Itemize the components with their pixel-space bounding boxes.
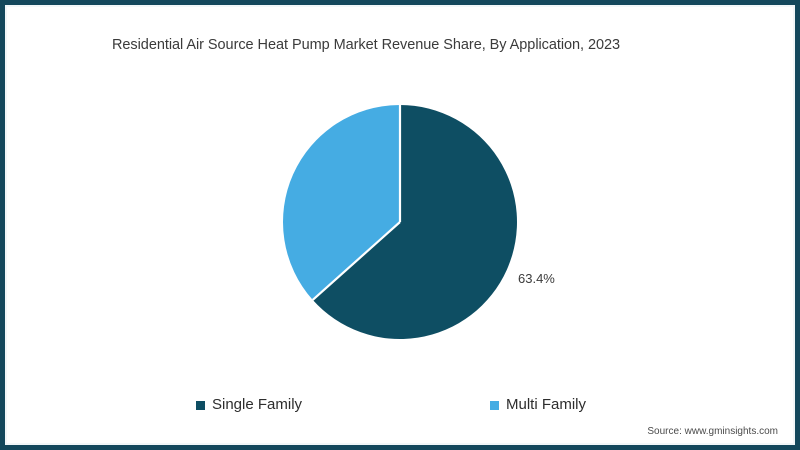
legend-label-multi-family: Multi Family	[506, 396, 586, 414]
legend-label-single-family: Single Family	[212, 396, 302, 414]
chart-title: Residential Air Source Heat Pump Market …	[112, 36, 752, 55]
pie-chart	[283, 105, 517, 339]
legend-swatch-icon-multi-family	[490, 401, 499, 410]
chart-legend: Single Family Multi Family	[0, 394, 800, 416]
pie-slice-value-label: 63.4%	[518, 271, 555, 287]
chart-canvas: Residential Air Source Heat Pump Market …	[0, 0, 800, 450]
source-attribution: Source: www.gminsights.com	[647, 425, 778, 438]
legend-item-single-family[interactable]: Single Family	[196, 394, 302, 416]
legend-swatch-icon-single-family	[196, 401, 205, 410]
legend-item-multi-family[interactable]: Multi Family	[490, 394, 586, 416]
pie-chart-svg	[283, 105, 517, 339]
